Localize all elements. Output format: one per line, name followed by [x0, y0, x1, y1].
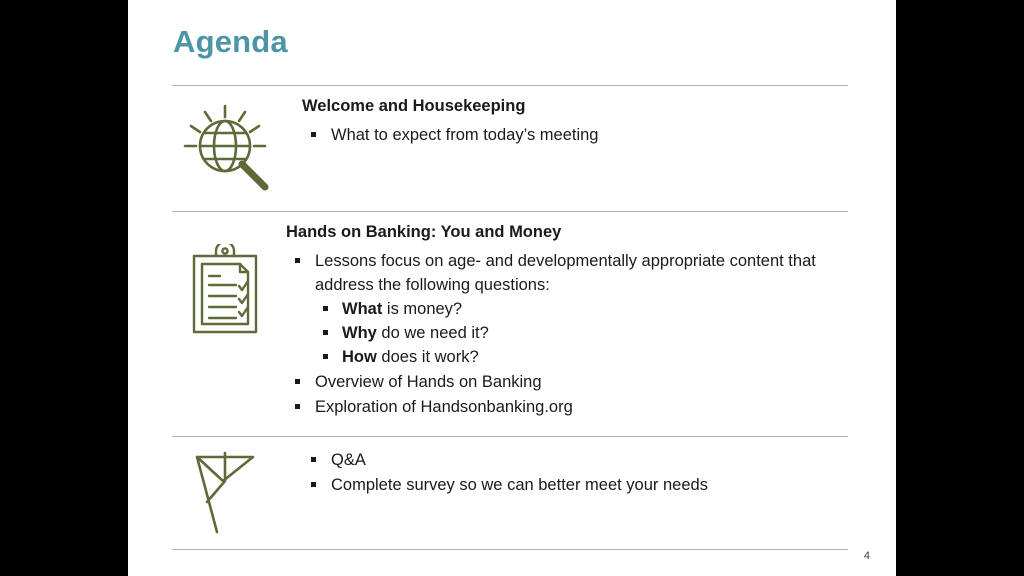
- bullet-square-icon: [311, 132, 316, 137]
- presentation-slide: Agenda: [128, 0, 896, 576]
- sub-bullet-text: is money?: [382, 300, 462, 318]
- bullet-list: What to expect from today’s meeting: [302, 123, 892, 147]
- bullet-text: Lessons focus on age- and developmentall…: [315, 252, 816, 294]
- bullet-text: Q&A: [331, 451, 366, 469]
- list-item: Lessons focus on age- and developmentall…: [286, 249, 876, 369]
- bullet-square-icon: [295, 379, 300, 384]
- list-item: Why do we need it?: [315, 321, 876, 345]
- section-heading: Hands on Banking: You and Money: [286, 222, 876, 243]
- bullet-square-icon: [323, 330, 328, 335]
- bullet-square-icon: [295, 404, 300, 409]
- sub-bullet-list: What is money? Why do we need it? How do…: [315, 297, 876, 369]
- list-item: Complete survey so we can better meet yo…: [302, 473, 892, 497]
- list-item: What to expect from today’s meeting: [302, 123, 892, 147]
- list-item: Exploration of Handsonbanking.org: [286, 395, 876, 419]
- section-divider-1: [172, 85, 848, 86]
- section-divider-2: [172, 211, 848, 212]
- sub-bullet-text: does it work?: [377, 348, 479, 366]
- section-heading: Welcome and Housekeeping: [302, 96, 892, 117]
- sub-bullet-text: do we need it?: [377, 324, 489, 342]
- page-title: Agenda: [173, 24, 288, 60]
- bullet-text: Exploration of Handsonbanking.org: [315, 398, 573, 416]
- bullet-square-icon: [323, 354, 328, 359]
- bullet-square-icon: [323, 306, 328, 311]
- list-item: What is money?: [315, 297, 876, 321]
- bullet-square-icon: [311, 457, 316, 462]
- agenda-section-body: Welcome and Housekeeping What to expect …: [302, 96, 892, 148]
- page-number: 4: [864, 550, 870, 562]
- sub-bullet-keyword: What: [342, 300, 382, 318]
- section-divider-4: [172, 549, 848, 550]
- list-item: Q&A: [302, 448, 892, 472]
- list-item: How does it work?: [315, 345, 876, 369]
- sub-bullet-keyword: How: [342, 348, 377, 366]
- flag-pennant-icon: [172, 450, 282, 536]
- bullet-square-icon: [295, 258, 300, 263]
- bullet-text: Complete survey so we can better meet yo…: [331, 476, 708, 494]
- bullet-square-icon: [311, 482, 316, 487]
- list-item: Overview of Hands on Banking: [286, 370, 876, 394]
- sub-bullet-keyword: Why: [342, 324, 377, 342]
- section-divider-3: [172, 436, 848, 437]
- bullet-text: What to expect from today’s meeting: [331, 126, 599, 144]
- agenda-section-body: Q&A Complete survey so we can better mee…: [302, 448, 892, 498]
- bullet-text: Overview of Hands on Banking: [315, 373, 542, 391]
- bullet-list: Lessons focus on age- and developmentall…: [286, 249, 876, 420]
- clipboard-checklist-icon: [172, 244, 282, 336]
- slide-viewer: Agenda: [0, 0, 1024, 576]
- globe-magnifier-icon: [172, 102, 282, 192]
- bullet-list: Q&A Complete survey so we can better mee…: [302, 448, 892, 497]
- agenda-section-body: Hands on Banking: You and Money Lessons …: [286, 222, 876, 420]
